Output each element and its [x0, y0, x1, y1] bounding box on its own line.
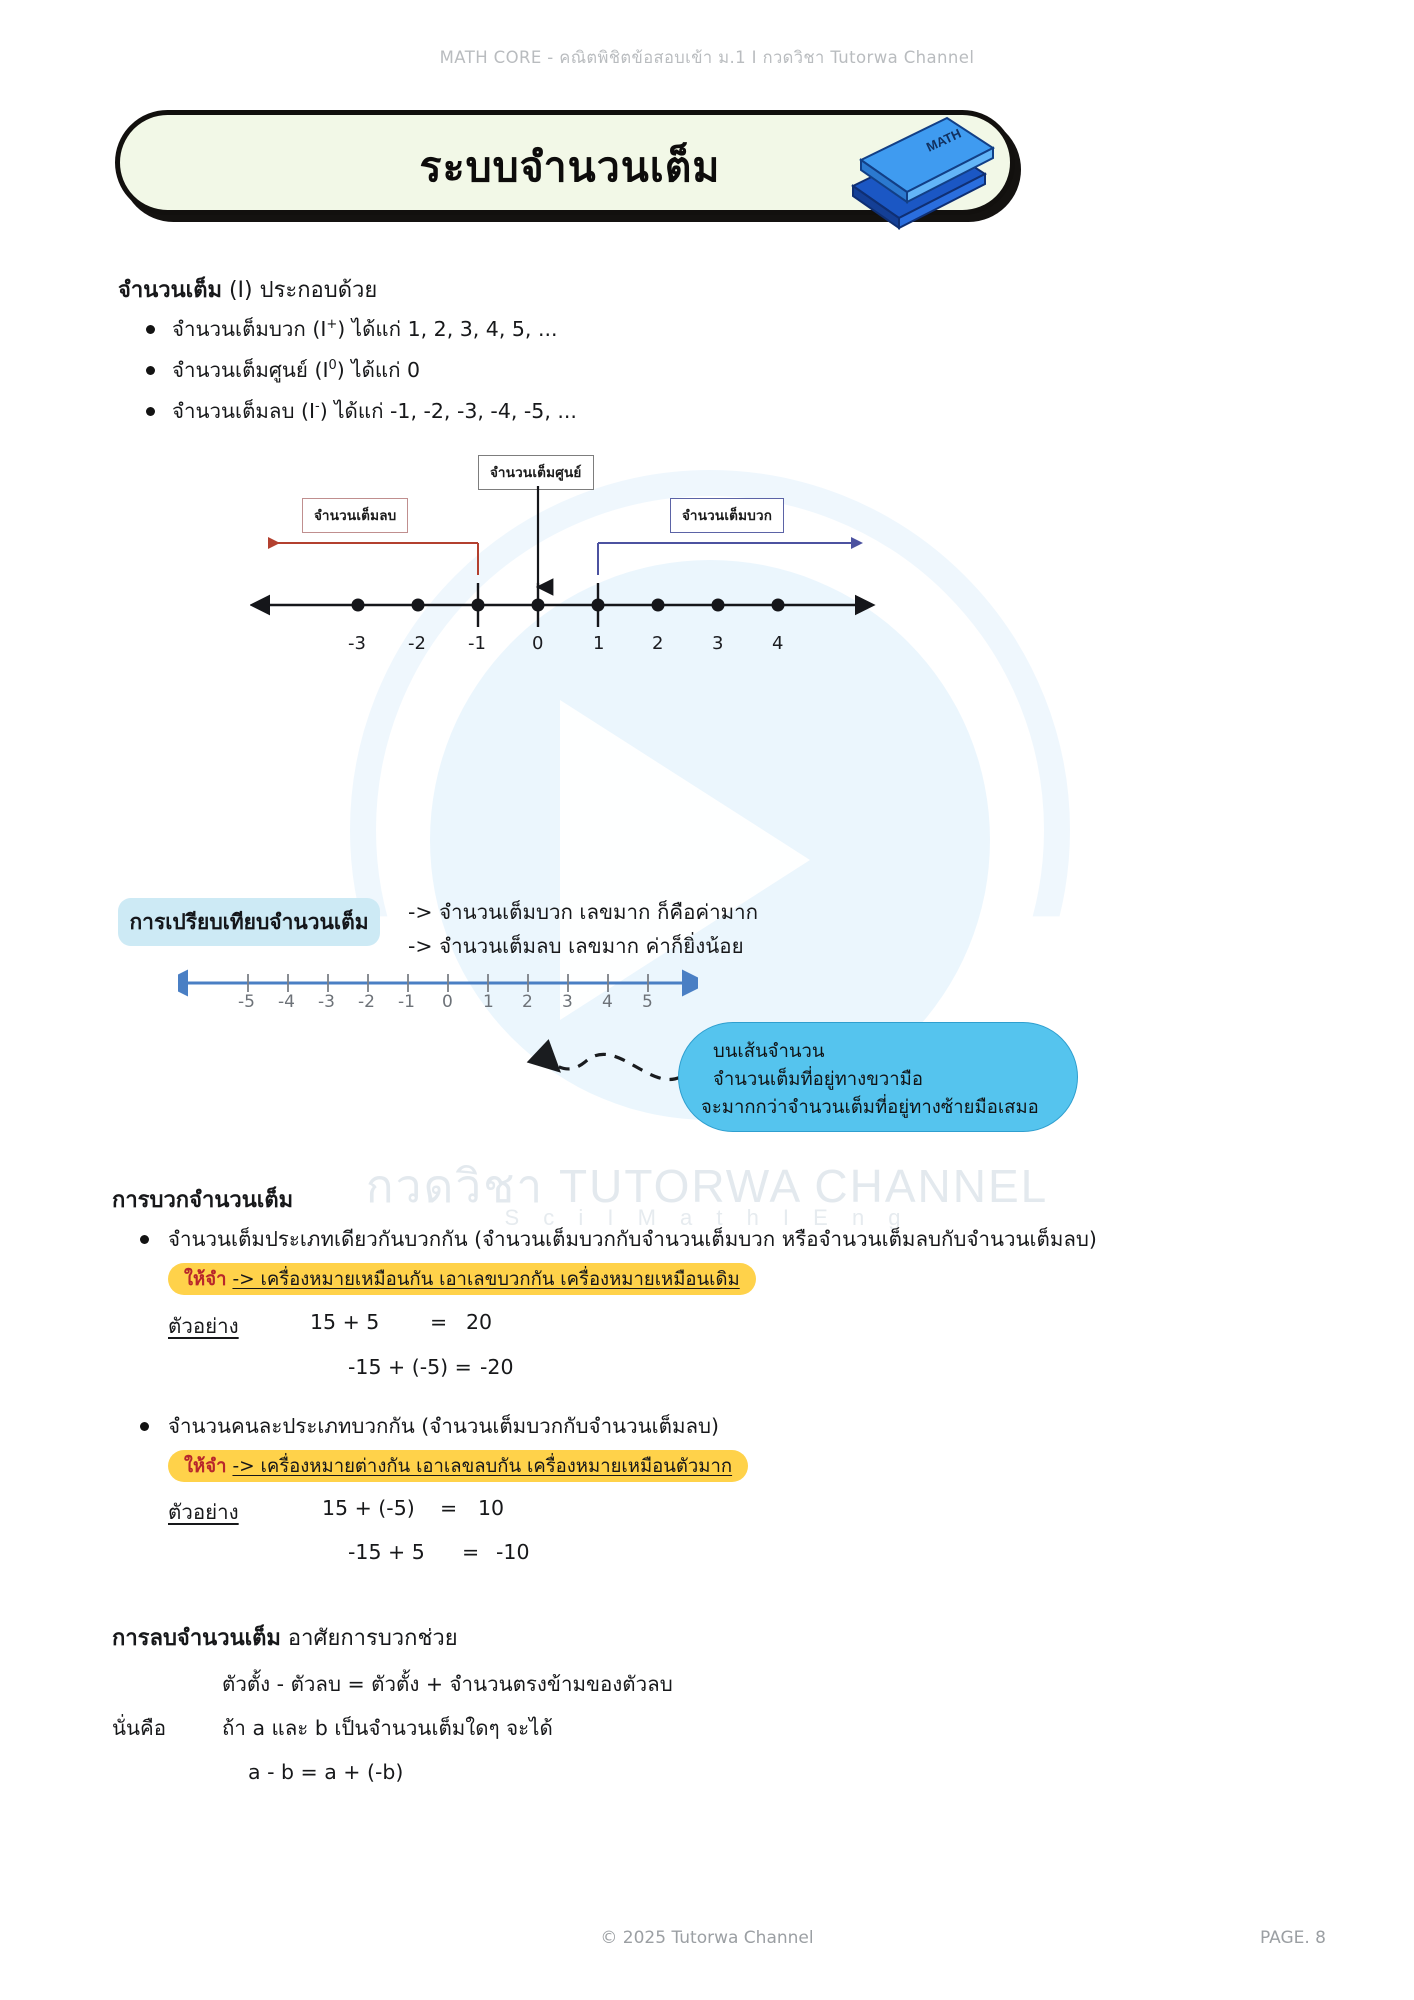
number-line-svg [250, 455, 890, 675]
definition-heading-rest: (I) ประกอบด้วย [222, 278, 377, 303]
compare-badge: การเปรียบเทียบจำนวนเต็ม [118, 898, 380, 946]
subtraction-heading: การลบจำนวนเต็ม อาศัยการบวกช่วย [112, 1620, 458, 1655]
compare-rule-1: -> จำนวนเต็มบวก เลขมาก ก็คือค่ามาก [408, 896, 758, 929]
subtraction-heading-rest: อาศัยการบวกช่วย [281, 1626, 458, 1651]
running-header: MATH CORE - คณิตพิชิตข้อสอบเข้า ม.1 I กว… [0, 45, 1414, 71]
compare-rule-2: -> จำนวนเต็มลบ เลขมาก ค่าก็ยิ่งน้อย [408, 930, 744, 963]
tick-label: 3 [712, 633, 723, 654]
tick-label: 1 [593, 633, 604, 654]
definition-bullet-zero: จำนวนเต็มศูนย์ (I0) ได้แก่ 0 [172, 354, 420, 387]
rule-text: -> เครื่องหมายต่างกัน เอาเลขลบกัน เครื่อ… [232, 1452, 732, 1481]
rule-text: -> เครื่องหมายเหมือนกัน เอาเลขบวกกัน เคร… [232, 1265, 739, 1294]
rule-keyword: ให้จำ [184, 1265, 226, 1294]
addition-case2-line2-rhs: -10 [496, 1540, 529, 1564]
addition-case2-line1-rhs: 10 [478, 1496, 504, 1520]
bullet-marker [146, 407, 155, 416]
bullet-text-after: ) ได้แก่ 0 [337, 358, 420, 382]
callout-line-3: จะมากกว่าจำนวนเต็มที่อยู่ทางซ้ายมือเสมอ [701, 1093, 1039, 1122]
bullet-text-after: ) ได้แก่ 1, 2, 3, 4, 5, ... [337, 317, 557, 341]
footer-copyright: © 2025 Tutorwa Channel [0, 1928, 1414, 1948]
superscript-zero: 0 [329, 358, 337, 373]
addition-case1-line2-lhs: -15 + (-5) = [348, 1355, 472, 1379]
addition-case2-line2-eq: = [462, 1540, 479, 1564]
bullet-marker [146, 366, 155, 375]
callout-line-1: บนเส้นจำนวน [713, 1037, 825, 1066]
addition-case1-line2-rhs: -20 [480, 1355, 513, 1379]
mini-tick-label: -1 [398, 992, 415, 1012]
subtraction-heading-bold: การลบจำนวนเต็ม [112, 1626, 281, 1651]
subtraction-lead: นั่นคือ [112, 1712, 166, 1745]
addition-case1-line1-eq: = [430, 1310, 447, 1334]
mini-tick-label: 4 [602, 992, 613, 1012]
mini-tick-label: -3 [318, 992, 335, 1012]
bullet-text-before: จำนวนเต็มศูนย์ (I [172, 358, 329, 382]
tick-label: -1 [468, 633, 486, 654]
addition-case1-line1-rhs: 20 [466, 1310, 492, 1334]
definition-heading-bold: จำนวนเต็ม [118, 278, 222, 303]
tick-label: 2 [652, 633, 663, 654]
mini-tick-label: 5 [642, 992, 653, 1012]
worksheet-page: MATH CORE - คณิตพิชิตข้อสอบเข้า ม.1 I กว… [0, 0, 1414, 2000]
addition-case1-line1-lhs: 15 + 5 [310, 1310, 379, 1334]
bullet-marker [140, 1235, 149, 1244]
addition-case2-line1-lhs: 15 + (-5) [322, 1496, 415, 1520]
superscript-plus: + [326, 317, 337, 332]
subtraction-formula-symbols: a - b = a + (-b) [248, 1760, 403, 1784]
tick-label: 0 [532, 633, 543, 654]
definition-heading: จำนวนเต็ม (I) ประกอบด้วย [118, 272, 377, 307]
addition-case2-example-label: ตัวอย่าง [168, 1496, 239, 1529]
subtraction-formula-words: ตัวตั้ง - ตัวลบ = ตัวตั้ง + จำนวนตรงข้าม… [222, 1668, 673, 1701]
mini-tick-label: 3 [562, 992, 573, 1012]
addition-case1-bullet: จำนวนเต็มประเภทเดียวกันบวกกัน (จำนวนเต็ม… [168, 1223, 1097, 1256]
bullet-marker [140, 1422, 149, 1431]
addition-case1-example-label: ตัวอย่าง [168, 1310, 239, 1343]
addition-case2-rule: ให้จำ-> เครื่องหมายต่างกัน เอาเลขลบกัน เ… [168, 1450, 748, 1482]
math-book-icon: MATH [835, 112, 995, 237]
subtraction-condition: ถ้า a และ b เป็นจำนวนเต็มใดๆ จะได้ [222, 1712, 553, 1745]
rule-keyword: ให้จำ [184, 1452, 226, 1481]
addition-case2-bullet: จำนวนคนละประเภทบวกกัน (จำนวนเต็มบวกกับจำ… [168, 1410, 719, 1443]
addition-heading: การบวกจำนวนเต็ม [112, 1182, 293, 1217]
mini-tick-label: -2 [358, 992, 375, 1012]
tick-label: 4 [772, 633, 783, 654]
addition-case2-line1-eq: = [440, 1496, 457, 1520]
bullet-text-after: ) ได้แก่ -1, -2, -3, -4, -5, ... [320, 399, 577, 423]
tick-label: -3 [348, 633, 366, 654]
mini-tick-label: -5 [238, 992, 255, 1012]
mini-tick-label: 0 [442, 992, 453, 1012]
mini-tick-label: 1 [483, 992, 494, 1012]
addition-case2-line2-lhs: -15 + 5 [348, 1540, 425, 1564]
mini-tick-label: 2 [522, 992, 533, 1012]
tick-label: -2 [408, 633, 426, 654]
bullet-text-before: จำนวนเต็มลบ (I [172, 399, 315, 423]
bullet-marker [146, 325, 155, 334]
footer-page-number: PAGE. 8 [1260, 1928, 1326, 1948]
mini-tick-label: -4 [278, 992, 295, 1012]
number-line-figure: จำนวนเต็มศูนย์ จำนวนเต็มลบ จำนวนเต็มบวก [250, 455, 890, 675]
callout-line-2: จำนวนเต็มที่อยู่ทางขวามือ [713, 1065, 923, 1094]
bullet-text-before: จำนวนเต็มบวก (I [172, 317, 326, 341]
definition-bullet-negative: จำนวนเต็มลบ (I-) ได้แก่ -1, -2, -3, -4, … [172, 395, 577, 428]
addition-case1-rule: ให้จำ-> เครื่องหมายเหมือนกัน เอาเลขบวกกั… [168, 1263, 756, 1295]
callout-bubble: บนเส้นจำนวน จำนวนเต็มที่อยู่ทางขวามือ จะ… [678, 1022, 1078, 1132]
definition-bullet-positive: จำนวนเต็มบวก (I+) ได้แก่ 1, 2, 3, 4, 5, … [172, 313, 558, 346]
